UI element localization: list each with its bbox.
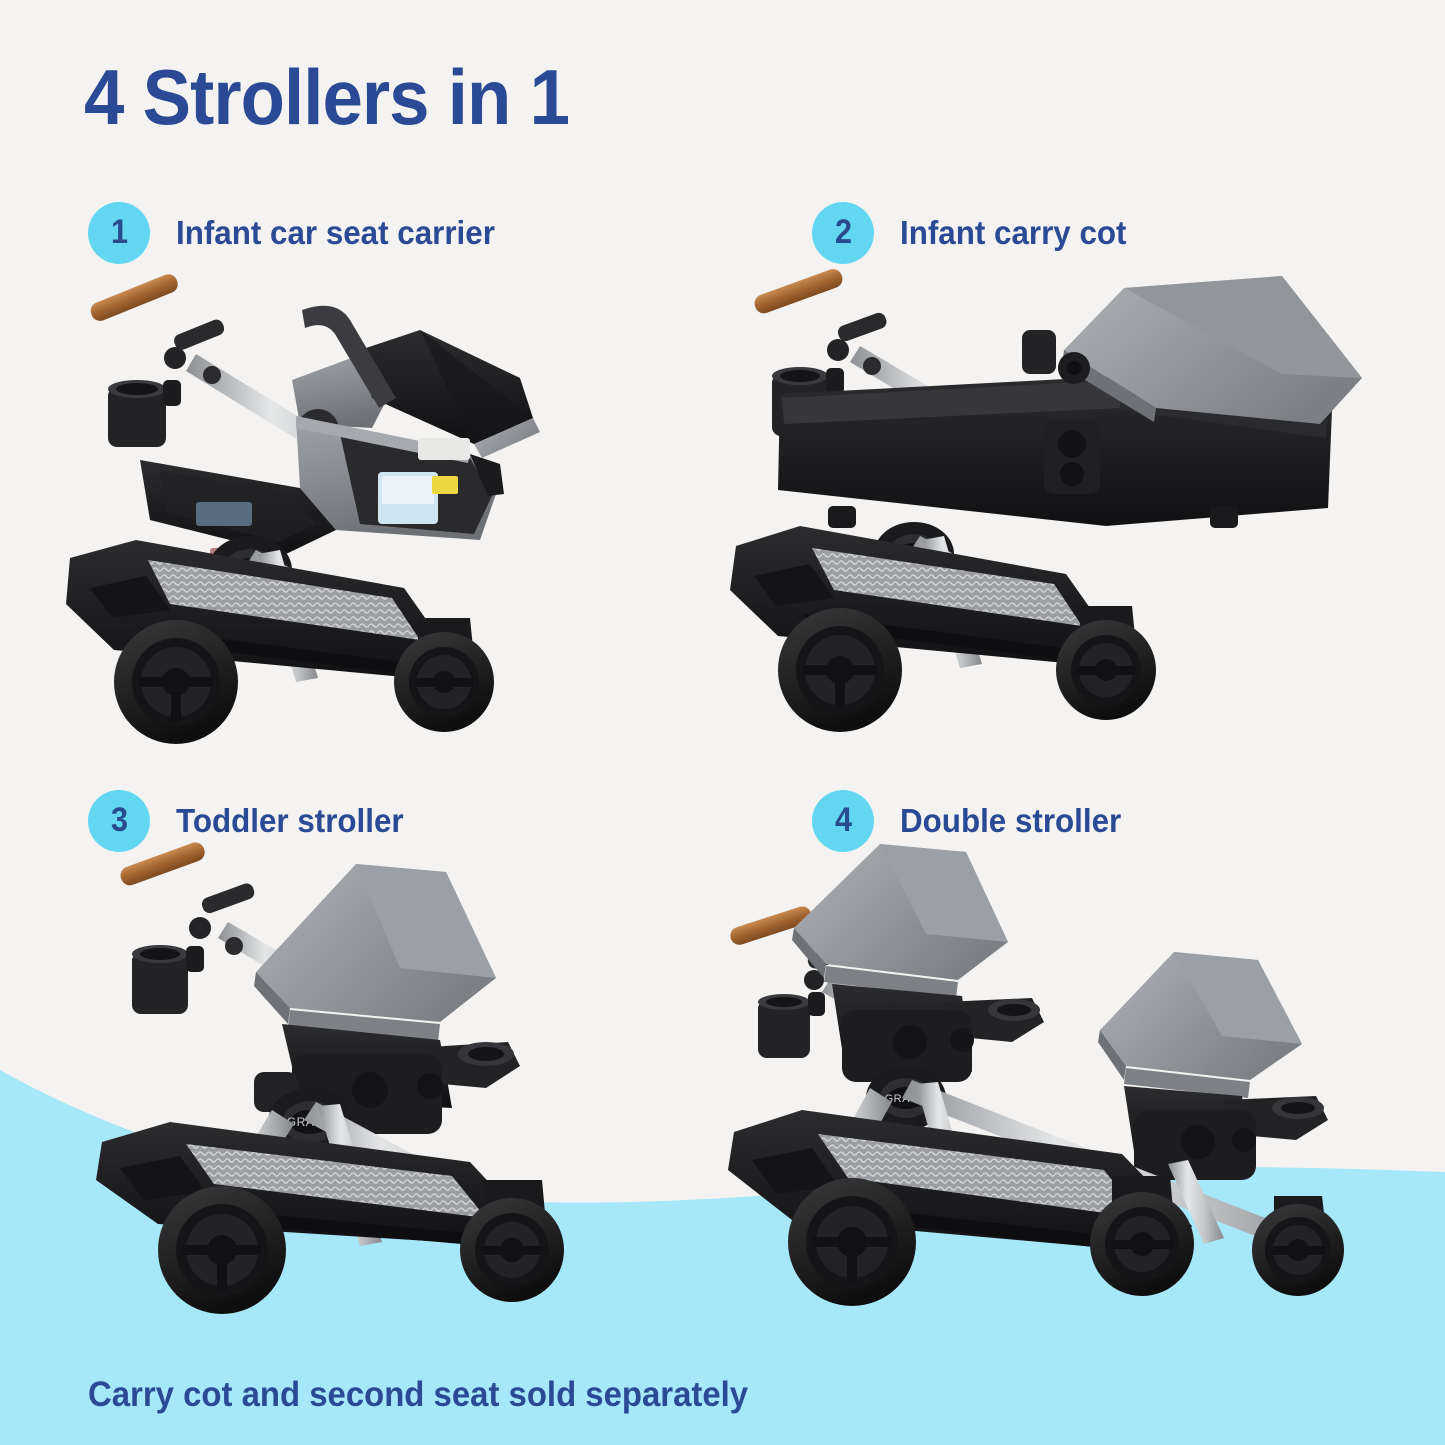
badge-number-1-text: 1 [110,215,127,249]
push-handle [118,842,256,915]
push-handle [88,272,226,352]
rear-wheel [788,1178,916,1306]
badge-number-2: 2 [812,202,874,264]
seat-label-white [418,438,470,460]
badge-number-2-text: 2 [834,215,851,249]
badge-number-4-text: 4 [834,803,851,837]
rear-wheel [158,1186,286,1314]
page-title: 4 Strollers in 1 [84,58,569,136]
front-wheel [1252,1196,1344,1296]
infant-car-seat [292,306,540,540]
cup-holder [132,945,204,1014]
illustration-infant-carry-cot: GRACO [722,258,1445,763]
panel-infant-carry-cot: 2 Infant carry cot [722,180,1445,780]
handle-knob-2 [225,937,243,955]
cup-holder [758,992,825,1058]
handle-knob [827,339,849,361]
heading-label-1: Infant car seat carrier [176,214,495,252]
handle-knob-2 [203,366,221,384]
panel-double-stroller: 4 Double stroller [722,770,1445,1390]
seat-label-yellow [432,476,458,494]
rear-wheel [778,608,902,732]
badge-number-3-text: 3 [110,803,127,837]
heading-row-2: 2 Infant carry cot [812,202,1138,264]
heading-label-3: Toddler stroller [176,802,404,840]
heading-label-4: Double stroller [900,802,1121,840]
handle-knob-2 [863,357,881,375]
push-handle [752,267,888,344]
panel-infant-car-seat-carrier: 1 Infant car seat carrier [0,180,722,780]
footnote-text: Carry cot and second seat sold separatel… [88,1375,748,1415]
illustration-double-stroller: GRACO [722,842,1445,1387]
carry-cot [778,276,1362,528]
rear-seat [792,844,1044,1082]
heading-row-1: 1 Infant car seat carrier [88,202,512,264]
rear-wheel [114,620,238,744]
handle-knob [189,917,211,939]
cup-holder [108,380,181,447]
badge-number-1: 1 [88,202,150,264]
handle-knob [164,347,186,369]
second-seat [1098,952,1328,1180]
heading-label-2: Infant carry cot [900,214,1126,252]
panel-toddler-stroller: 3 Toddler stroller [0,770,722,1390]
illustration-infant-car-seat-carrier: GRACO [0,258,722,763]
illustration-toddler-stroller: GRACO [0,842,722,1387]
